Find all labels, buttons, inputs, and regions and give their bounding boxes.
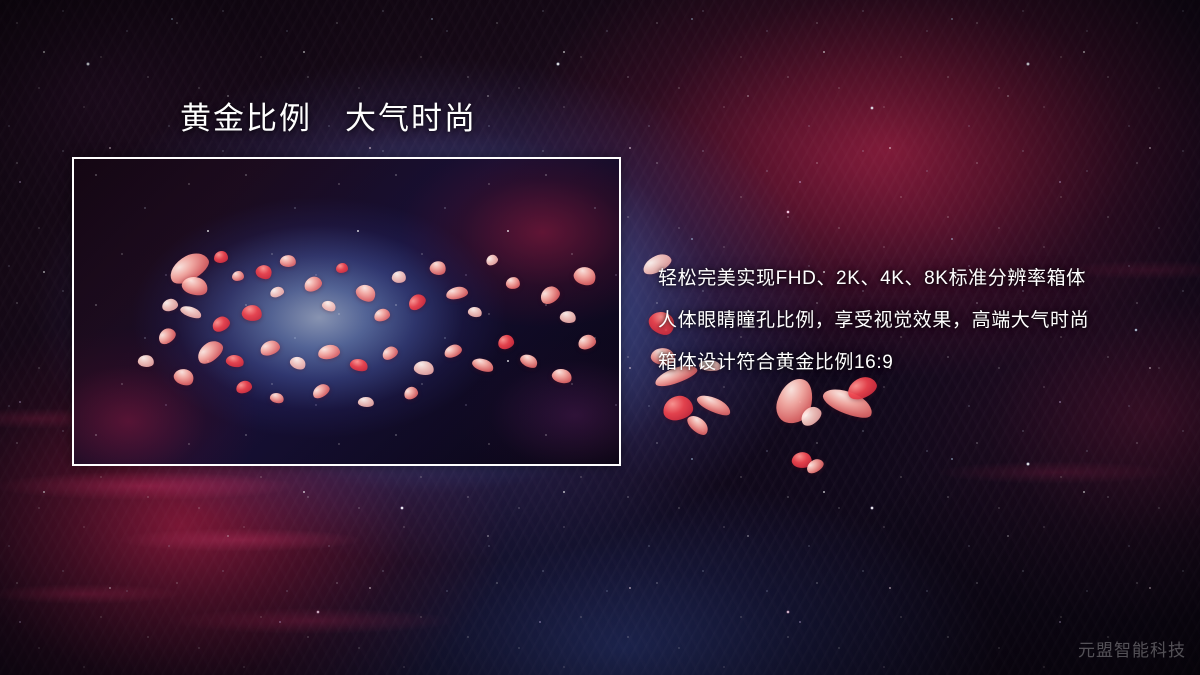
framed-picture — [72, 157, 621, 466]
body-line-1: 轻松完美实现FHD、2K、4K、8K标准分辨率箱体 — [658, 258, 1178, 300]
body-line-2: 人体眼睛瞳孔比例，享受视觉效果，高端大气时尚 — [658, 300, 1178, 342]
body-copy-block: 轻松完美实现FHD、2K、4K、8K标准分辨率箱体 人体眼睛瞳孔比例，享受视觉效… — [658, 258, 1178, 384]
petal-shape — [791, 450, 813, 469]
petal-shape — [661, 394, 694, 422]
petal-shape — [797, 403, 824, 429]
petal-shape — [695, 391, 733, 419]
petal-shape — [685, 412, 712, 439]
page-title: 黄金比例 大气时尚 — [180, 100, 477, 139]
body-line-3: 箱体设计符合黄金比例16:9 — [658, 342, 1178, 384]
watermark: 元盟智能科技 — [1078, 636, 1186, 661]
slide-canvas: 黄金比例 大气时尚 轻松完美实现FHD、2K、4K、8K标准分辨率箱体 人体眼睛… — [0, 0, 1200, 675]
petal-shape — [820, 382, 876, 423]
petal-shape — [804, 456, 826, 475]
picture-starfield — [74, 159, 619, 464]
